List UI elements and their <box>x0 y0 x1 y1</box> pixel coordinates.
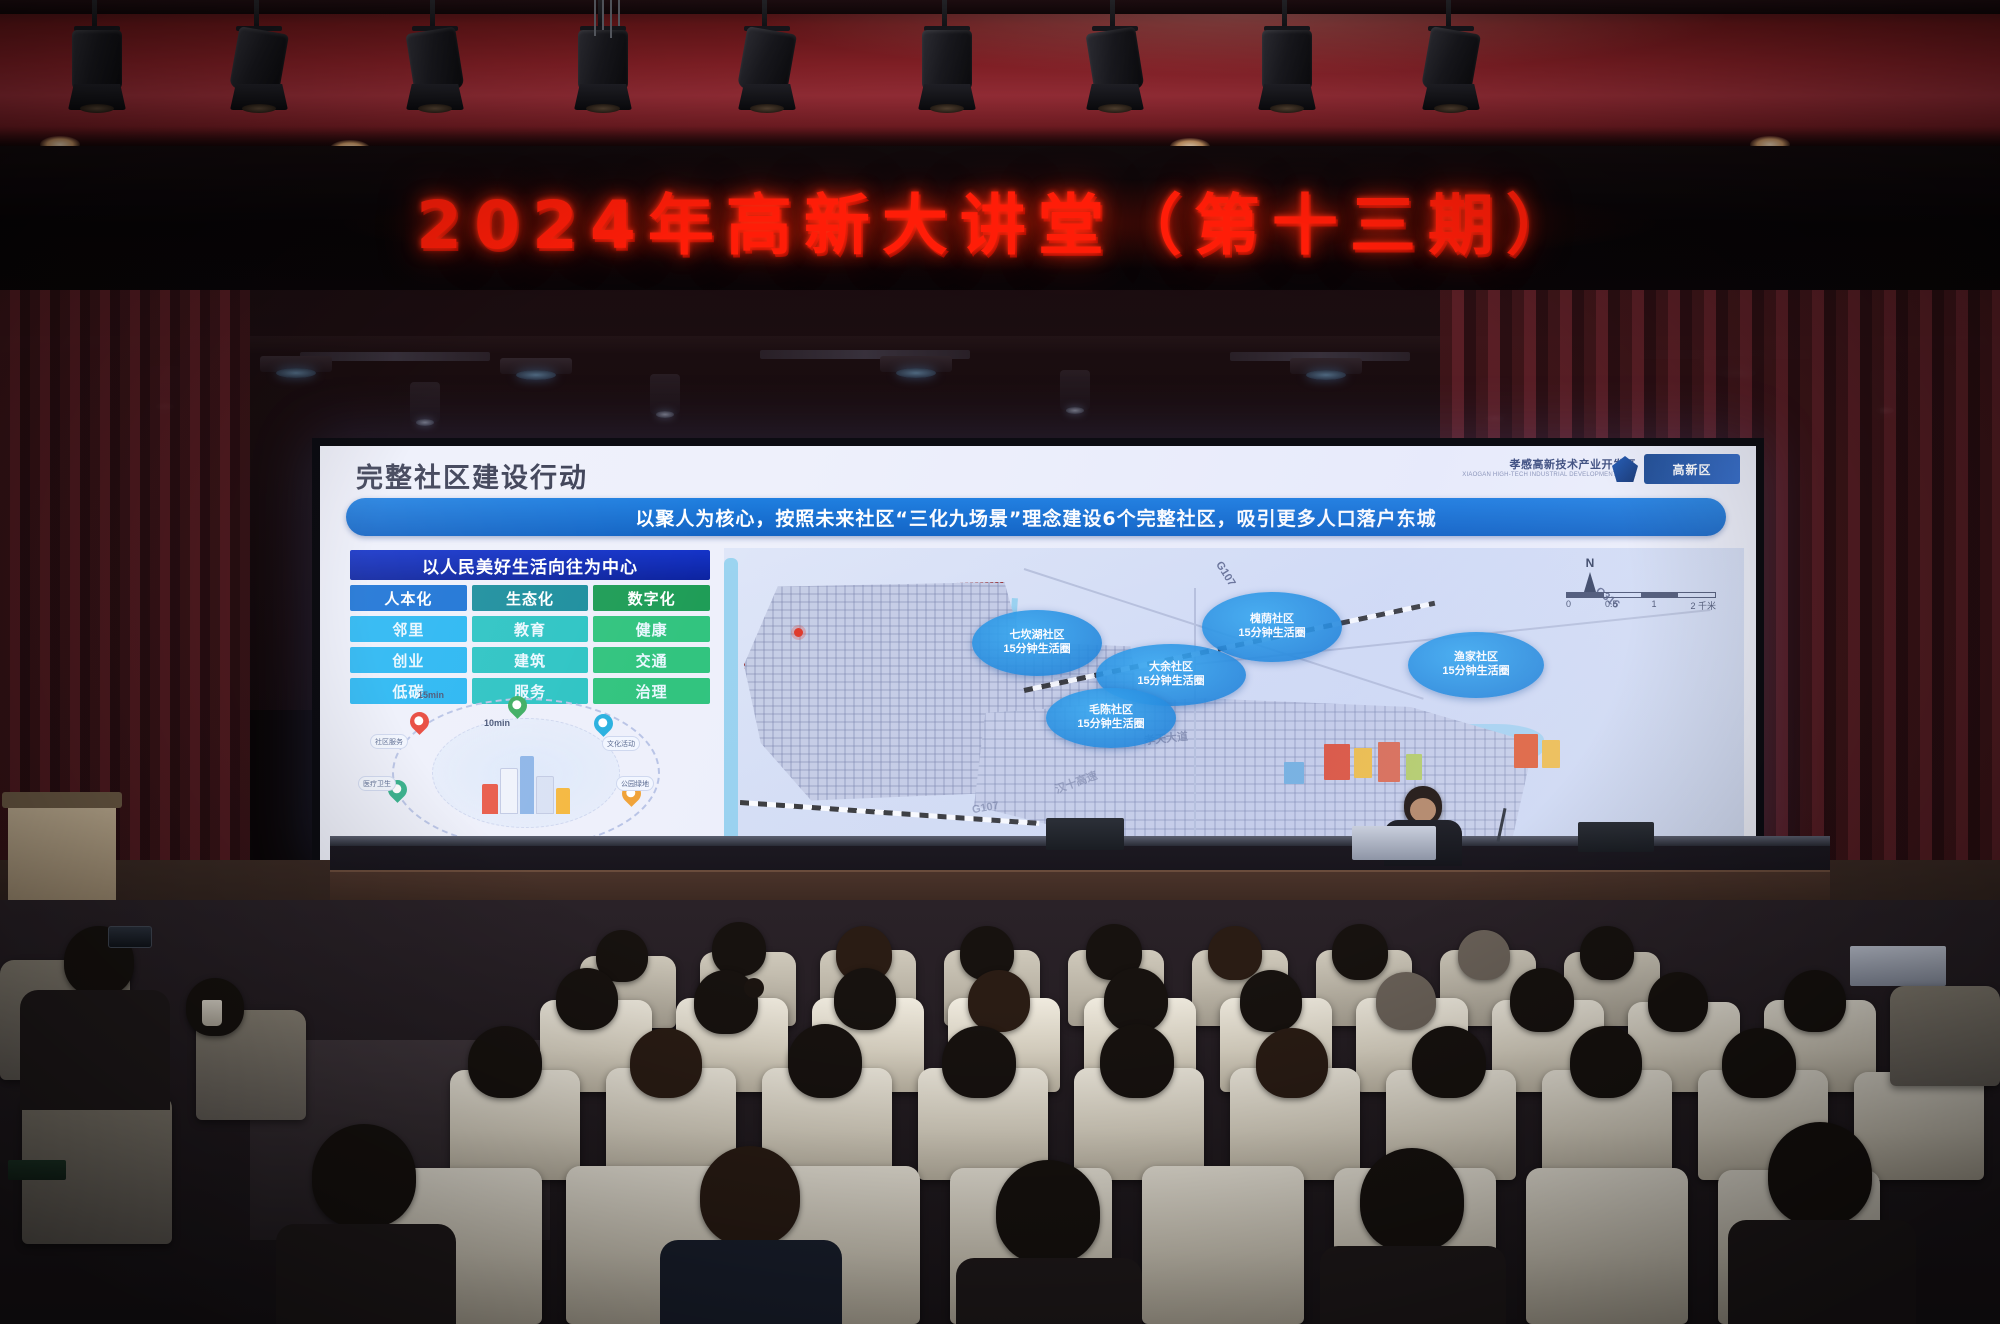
ring-label-15min: 15min <box>418 690 444 700</box>
community-sub: 15分钟生活圈 <box>1238 627 1305 641</box>
zone-block <box>1324 744 1350 780</box>
river <box>724 558 738 858</box>
scale-value: 0 <box>1566 599 1571 612</box>
circle-pill: 医疗卫生 <box>358 776 396 791</box>
matrix-col-1: 生态化 <box>472 585 589 611</box>
ceiling-sheen <box>0 0 2000 152</box>
zone-block <box>1514 734 1538 768</box>
community-sub: 15分钟生活圈 <box>1077 718 1144 732</box>
zone-block <box>1406 754 1422 780</box>
matrix-cell: 健康 <box>593 616 710 642</box>
seat <box>1890 986 2000 1086</box>
audience-head <box>1722 1028 1796 1098</box>
map-marker <box>794 628 803 637</box>
audience-head <box>1412 1026 1486 1098</box>
brand-name-cn: 孝感高新技术产业开发区 <box>1462 460 1636 472</box>
community-name: 渔家社区 <box>1454 651 1498 665</box>
circle-pill: 公园绿地 <box>616 776 654 791</box>
compass-icon: N <box>1576 556 1604 592</box>
circle-pill: 文化活动 <box>602 736 640 751</box>
audience-head <box>942 1026 1016 1098</box>
zone-block <box>1378 742 1400 782</box>
community-name: 槐荫社区 <box>1250 613 1294 627</box>
matrix-col-0: 人本化 <box>350 585 467 611</box>
audience-head <box>556 968 618 1030</box>
audience-head <box>1104 968 1168 1032</box>
paper-cup <box>202 1000 222 1026</box>
audience-shoulders <box>276 1224 456 1324</box>
brand-logo: 高新区 <box>1644 454 1740 484</box>
matrix-cell: 交通 <box>593 647 710 673</box>
audience-head <box>1332 924 1388 980</box>
audience-shoulders <box>956 1258 1142 1324</box>
matrix-row: 创业 建筑 交通 <box>350 647 710 673</box>
zone-block <box>1284 762 1304 784</box>
audience-head <box>1768 1122 1872 1226</box>
matrix-col-2: 数字化 <box>593 585 710 611</box>
audience-shoulders <box>1320 1246 1506 1324</box>
matrix-header: 以人民美好生活向往为中心 <box>350 550 710 580</box>
community-circle[interactable]: 槐荫社区 15分钟生活圈 <box>1202 592 1342 662</box>
audience-head <box>1256 1028 1328 1098</box>
matrix-row: 邻里 教育 健康 <box>350 616 710 642</box>
audience-head <box>834 968 896 1030</box>
road-label: G107 <box>1213 559 1237 588</box>
seat <box>1142 1166 1304 1324</box>
ring-label-10min: 10min <box>484 718 510 728</box>
audience-head <box>788 1024 862 1098</box>
slide-headline: 以聚人为核心，按照未来社区“三化九场景”理念建设6个完整社区，吸引更多人口落户东… <box>346 498 1726 536</box>
audience-head <box>468 1026 542 1098</box>
table-monitor <box>1578 822 1654 852</box>
audience-laptop[interactable] <box>1850 946 1946 986</box>
audience-head <box>1784 970 1846 1032</box>
community-sub: 15分钟生活圈 <box>1003 643 1070 657</box>
community-circle[interactable]: 毛陈社区 15分钟生活圈 <box>1046 688 1176 748</box>
zone-block <box>1542 740 1560 768</box>
matrix-column-header-row: 人本化 生态化 数字化 <box>350 585 710 611</box>
community-name: 毛陈社区 <box>1089 704 1133 718</box>
audience-shoulders <box>20 990 170 1110</box>
compass-north-label: N <box>1576 556 1604 570</box>
audience-shoulders <box>1728 1220 1916 1324</box>
slide-title: 完整社区建设行动 <box>356 456 588 495</box>
circle-pill: 社区服务 <box>370 734 408 749</box>
notebook <box>8 1160 66 1180</box>
audience-head <box>630 1028 702 1098</box>
audience-head <box>694 970 758 1034</box>
audience-shoulders <box>660 1240 842 1324</box>
ceiling-truss-rail <box>0 0 2000 14</box>
brand-name-en: XIAOGAN HIGH-TECH INDUSTRIAL DEVELOPMENT… <box>1462 472 1636 478</box>
audience-head <box>996 1160 1100 1264</box>
matrix-cell: 邻里 <box>350 616 467 642</box>
district-map[interactable]: G107 G316 G107 孝天大道 汉十高速 七坎湖社区 15分钟生活圈 <box>724 548 1744 862</box>
audience-head <box>1510 968 1574 1032</box>
community-core <box>478 742 578 814</box>
community-sub: 15分钟生活圈 <box>1137 675 1204 689</box>
smartphone[interactable] <box>108 926 152 948</box>
community-name: 七坎湖社区 <box>1010 629 1065 643</box>
event-banner: 2024年高新大讲堂（第十三期） <box>0 150 2000 290</box>
scale-bar-values: 0 0.5 1 2 千米 <box>1566 599 1716 612</box>
seat <box>1526 1168 1688 1324</box>
scale-value: 2 千米 <box>1690 599 1716 612</box>
presentation-slide[interactable]: 完整社区建设行动 孝感高新技术产业开发区 XIAOGAN HIGH-TECH I… <box>320 446 1756 862</box>
scale-value: 1 <box>1651 599 1656 612</box>
matrix-cell: 建筑 <box>472 647 589 673</box>
scale-bar-graphic <box>1566 592 1716 598</box>
community-circle[interactable]: 七坎湖社区 15分钟生活圈 <box>972 610 1102 676</box>
scale-value: 0.5 <box>1605 599 1618 612</box>
audience-head <box>700 1146 800 1246</box>
map-scale-bar: 0 0.5 1 2 千米 <box>1566 592 1716 612</box>
road-line <box>1194 588 1196 838</box>
three-modern-nine-scenes-matrix: 以人民美好生活向往为中心 人本化 生态化 数字化 邻里 教育 健康 创业 建筑 … <box>350 550 710 704</box>
audience-head <box>1360 1148 1464 1252</box>
community-name: 大余社区 <box>1149 661 1193 675</box>
compass-needle-icon <box>1584 572 1596 592</box>
audience-head <box>1240 970 1302 1032</box>
banner-title: 2024年高新大讲堂（第十三期） <box>416 172 1584 268</box>
auditorium-scene: 2024年高新大讲堂（第十三期） 完整社区建设行动 孝感高新技术产业开发区 XI… <box>0 0 2000 1324</box>
audience-head <box>1376 972 1436 1030</box>
projection-screen-frame: 完整社区建设行动 孝感高新技术产业开发区 XIAOGAN HIGH-TECH I… <box>312 438 1764 870</box>
audience-head <box>968 970 1030 1032</box>
audience-head <box>1648 972 1708 1032</box>
matrix-cell: 创业 <box>350 647 467 673</box>
audience-head <box>1570 1026 1642 1098</box>
audience-head <box>1100 1024 1174 1098</box>
slide-brand: 孝感高新技术产业开发区 XIAOGAN HIGH-TECH INDUSTRIAL… <box>1462 460 1636 478</box>
audience-head <box>1580 926 1634 980</box>
light-cables <box>588 0 648 40</box>
audience-head <box>312 1124 416 1228</box>
table-monitor <box>1046 818 1124 850</box>
audience-head <box>1458 930 1510 980</box>
presenter-laptop <box>1352 826 1436 860</box>
community-circle[interactable]: 渔家社区 15分钟生活圈 <box>1408 632 1544 698</box>
community-sub: 15分钟生活圈 <box>1442 665 1509 679</box>
audience-head <box>1208 926 1262 980</box>
matrix-cell: 教育 <box>472 616 589 642</box>
zone-block <box>1354 748 1372 778</box>
seat <box>1854 1072 1984 1180</box>
audience-head <box>712 922 766 976</box>
